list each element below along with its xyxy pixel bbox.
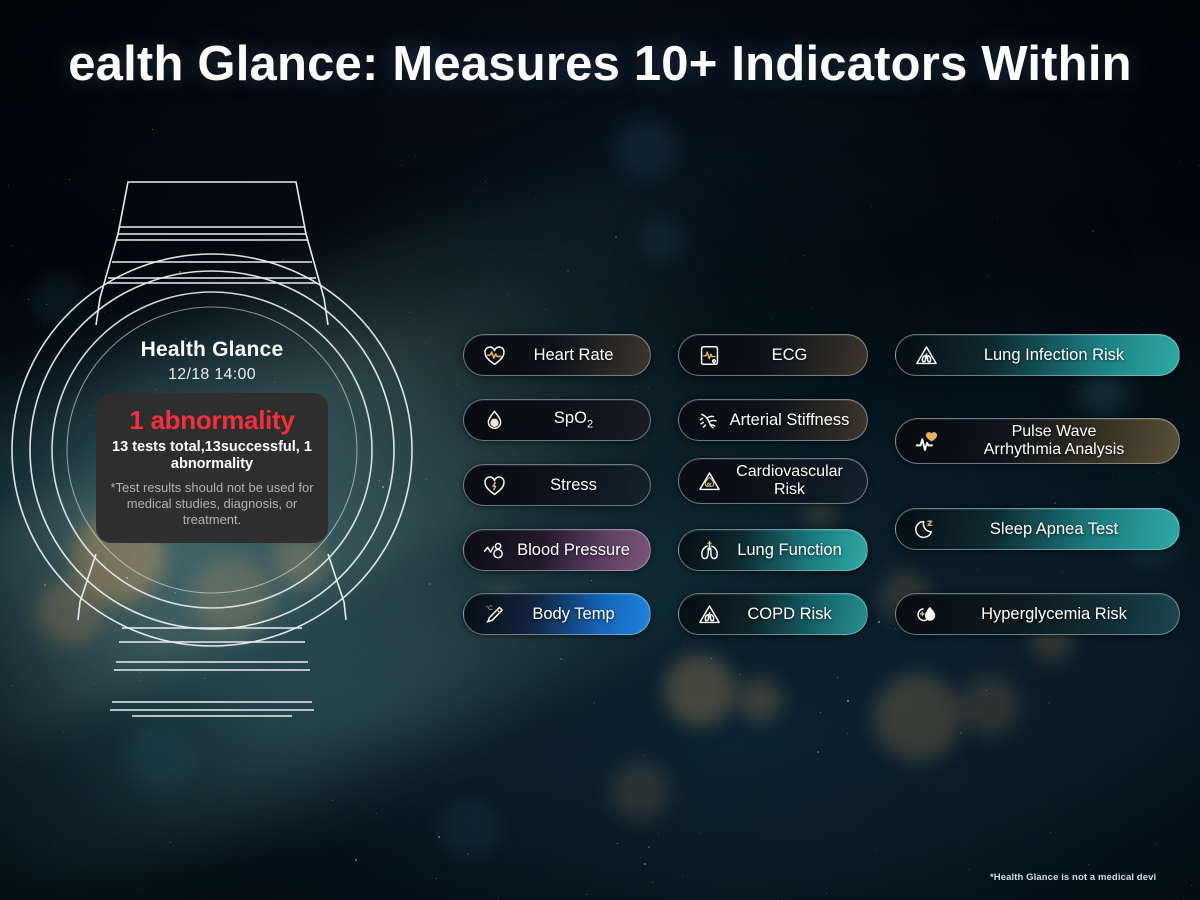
indicator-label: Heart Rate xyxy=(511,346,650,364)
warning-lungs-icon xyxy=(692,602,726,627)
indicator-label: Cardiovascular Risk xyxy=(726,463,867,499)
indicator-pill-blood-pressure[interactable]: Blood Pressure xyxy=(463,529,651,571)
indicator-label: Sleep Apnea Test xyxy=(943,520,1179,538)
indicator-pill-sleep-apnea-test[interactable]: Sleep Apnea Test xyxy=(895,508,1180,550)
indicator-pill-lung-infection-risk[interactable]: Lung Infection Risk xyxy=(895,334,1180,376)
indicator-label: Body Temp xyxy=(511,605,650,623)
blood-pressure-icon xyxy=(477,538,511,563)
heart-outline-icon xyxy=(477,473,511,498)
indicator-pill-cardiovascular-risk[interactable]: Cardiovascular Risk xyxy=(678,458,868,504)
pulse-wave-icon xyxy=(909,429,943,454)
legal-footnote: *Health Glance is not a medical devi xyxy=(990,872,1200,883)
svg-text:°C: °C xyxy=(485,603,493,611)
indicator-label: Pulse Wave Arrhythmia Analysis xyxy=(943,423,1179,459)
indicator-label: Hyperglycemia Risk xyxy=(943,605,1179,623)
indicator-label: Arterial Stiffness xyxy=(726,411,867,429)
indicator-pill-ecg[interactable]: ECG xyxy=(678,334,868,376)
indicator-pill-stress[interactable]: Stress xyxy=(463,464,651,506)
heart-rate-icon xyxy=(477,343,511,368)
ecg-monitor-icon xyxy=(692,343,726,368)
indicator-grid: Heart Rate SpO2 Stress Blood Pressure °C… xyxy=(0,0,1200,900)
indicator-label: Stress xyxy=(511,476,650,494)
indicator-pill-heart-rate[interactable]: Heart Rate xyxy=(463,334,651,376)
glucose-drop-icon xyxy=(909,602,943,627)
warning-heart-icon xyxy=(692,469,726,494)
moon-sleep-icon xyxy=(909,517,943,542)
blood-drop-icon xyxy=(477,408,511,433)
lungs-icon xyxy=(692,538,726,563)
indicator-label: Lung Function xyxy=(726,541,867,559)
indicator-label: SpO2 xyxy=(511,409,650,431)
indicator-pill-hyperglycemia-risk[interactable]: Hyperglycemia Risk xyxy=(895,593,1180,635)
indicator-label: Blood Pressure xyxy=(511,541,650,559)
indicator-label: COPD Risk xyxy=(726,605,867,623)
indicator-pill-body-temp[interactable]: °CBody Temp xyxy=(463,593,651,635)
indicator-pill-spo2[interactable]: SpO2 xyxy=(463,399,651,441)
indicator-label: ECG xyxy=(726,346,867,364)
warning-lungs-icon xyxy=(909,343,943,368)
indicator-label: Lung Infection Risk xyxy=(943,346,1179,364)
indicator-pill-arterial-stiffness[interactable]: Arterial Stiffness xyxy=(678,399,868,441)
indicator-pill-copd-risk[interactable]: COPD Risk xyxy=(678,593,868,635)
thermometer-icon: °C xyxy=(477,602,511,627)
artery-icon xyxy=(692,408,726,433)
indicator-pill-pulse-wave-arrhythmia-analysis[interactable]: Pulse Wave Arrhythmia Analysis xyxy=(895,418,1180,464)
indicator-pill-lung-function[interactable]: Lung Function xyxy=(678,529,868,571)
poster-stage: ealth Glance: Measures 10+ Indicators Wi… xyxy=(0,0,1200,900)
